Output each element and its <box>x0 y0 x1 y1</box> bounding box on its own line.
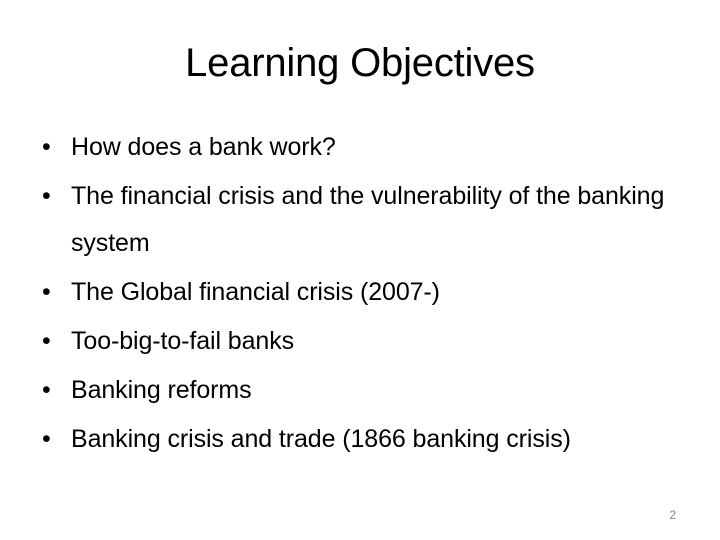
page-number: 2 <box>669 508 676 522</box>
list-item-label: The financial crisis and the vulnerabili… <box>71 173 676 267</box>
bullet-point-icon: • <box>42 124 56 171</box>
bullet-point-icon: • <box>42 416 56 463</box>
objectives-list: • How does a bank work? • The financial … <box>36 124 676 465</box>
list-item: • The Global financial crisis (2007-) <box>36 269 676 316</box>
list-item-label: How does a bank work? <box>71 124 676 171</box>
list-item: • The financial crisis and the vulnerabi… <box>36 173 676 267</box>
list-item-label: The Global financial crisis (2007-) <box>71 269 676 316</box>
list-item: • Banking reforms <box>36 367 676 414</box>
bullet-point-icon: • <box>42 367 56 414</box>
list-item-label: Too-big-to-fail banks <box>71 318 676 365</box>
bullet-point-icon: • <box>42 318 56 365</box>
list-item-label: Banking reforms <box>71 367 676 414</box>
bullet-point-icon: • <box>42 269 56 316</box>
bullet-point-icon: • <box>42 173 56 220</box>
presentation-slide: Learning Objectives • How does a bank wo… <box>0 0 720 540</box>
page-title: Learning Objectives <box>36 40 684 86</box>
list-item: • Too-big-to-fail banks <box>36 318 676 365</box>
list-item-label: Banking crisis and trade (1866 banking c… <box>71 416 676 463</box>
list-item: • How does a bank work? <box>36 124 676 171</box>
list-item: • Banking crisis and trade (1866 banking… <box>36 416 676 463</box>
